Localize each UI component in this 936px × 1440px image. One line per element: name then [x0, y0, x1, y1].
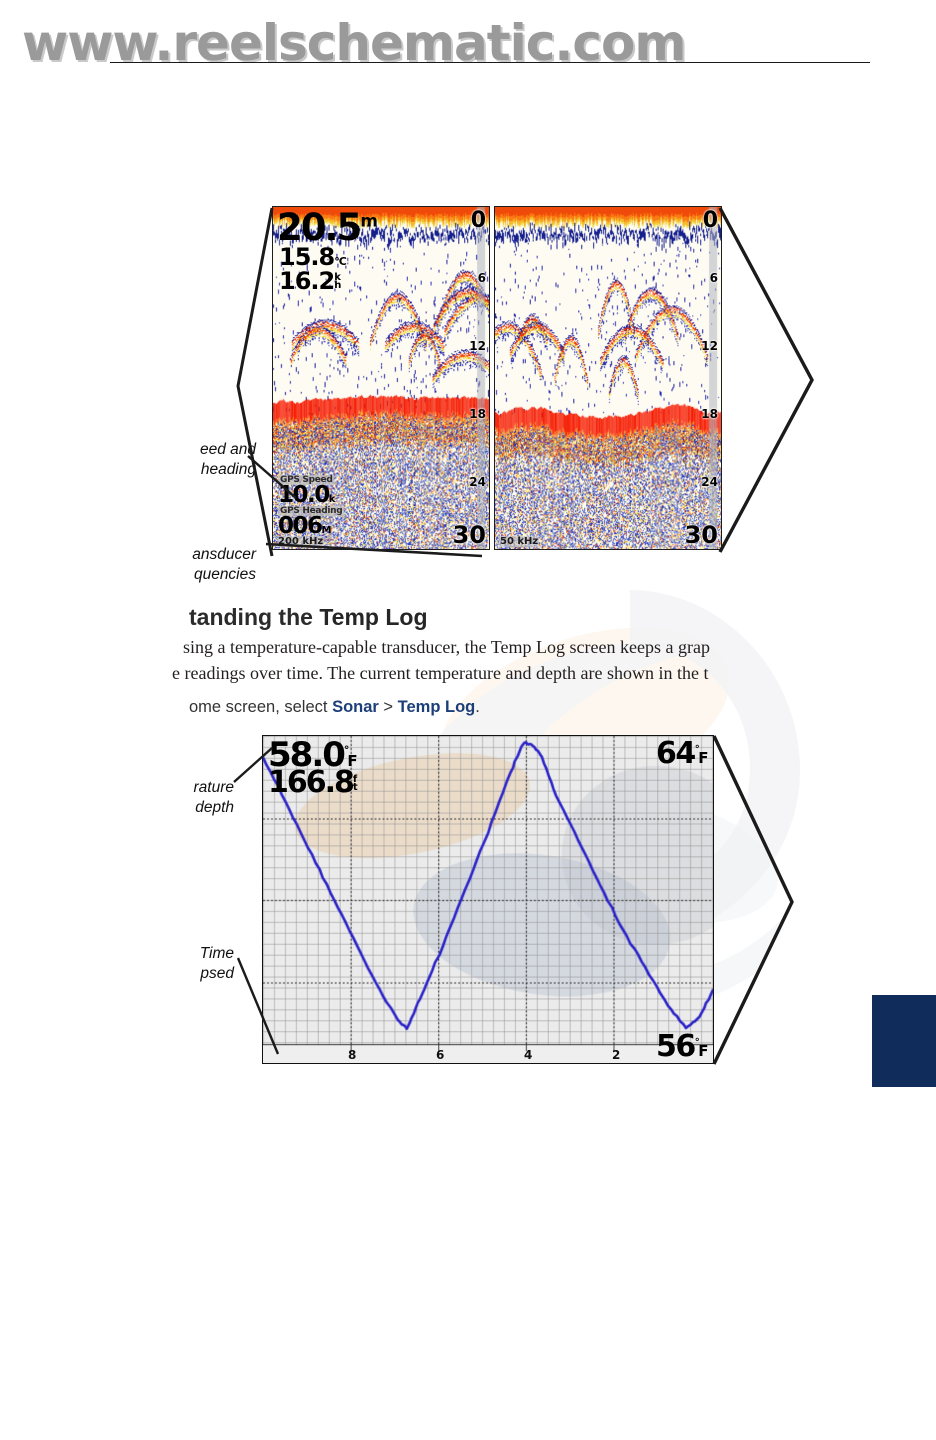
temp-depth-readout: 166.8ft [268, 768, 356, 798]
section-heading: tanding the Temp Log [189, 604, 428, 631]
sonar-water-temp-readout: 15.8°C [279, 245, 346, 269]
gps-speed-value: 10.0k [278, 484, 335, 507]
sonar-pane-50khz: 50 kHz 0 6 12 18 24 30 [494, 206, 722, 550]
time-tick-8: 8 [348, 1048, 356, 1062]
depth-tick-30-left: 30 [453, 521, 486, 549]
gps-heading-value: 006M [278, 515, 331, 538]
paragraph-line-1: sing a temperature-capable transducer, t… [183, 637, 710, 658]
callout-bracket-sonar-icon [716, 200, 820, 560]
depth-tick-24-right: 24 [701, 475, 718, 489]
time-tick-2: 2 [612, 1048, 620, 1062]
sonar-depth-readout: 20.5m [277, 209, 378, 246]
time-tick-4: 4 [524, 1048, 532, 1062]
depth-tick-30-right: 30 [685, 521, 718, 549]
depth-tick-12-right: 12 [701, 339, 718, 353]
temp-scale-min: 56°F [656, 1032, 707, 1062]
instruction-line: ome screen, select Sonar > Temp Log. [189, 698, 480, 717]
sonar-screenshot-figure: 20.5m 15.8°C 16.2kh GPS Speed 10.0k GPS … [272, 206, 722, 550]
sonar-echogram-right [495, 207, 721, 549]
depth-tick-18-right: 18 [701, 407, 718, 421]
time-tick-6: 6 [436, 1048, 444, 1062]
menu-path-temp-log: Temp Log [398, 698, 476, 716]
sonar-water-speed-readout: 16.2kh [279, 269, 340, 293]
page-edge-tab [872, 995, 936, 1087]
header-rule [110, 62, 870, 63]
callout-time-elapsed: Timepsed [160, 944, 234, 985]
site-watermark-text: www.reelschematic.com [22, 14, 642, 76]
depth-tick-12-left: 12 [469, 339, 486, 353]
depth-tick-18-left: 18 [469, 407, 486, 421]
menu-path-sonar: Sonar [332, 698, 379, 716]
depth-tick-24-left: 24 [469, 475, 486, 489]
callout-transducer-frequencies: ansducerquencies [120, 545, 256, 586]
sonar-pane-200khz: 20.5m 15.8°C 16.2kh GPS Speed 10.0k GPS … [272, 206, 490, 550]
callout-gps-speed-heading: eed andheading [128, 440, 256, 481]
depth-tick-0-left: 0 [471, 208, 486, 233]
depth-tick-6-right: 6 [710, 271, 718, 285]
temp-log-screen: 58.0°F 166.8ft 64°F 56°F 10min 8 6 4 2 [262, 735, 714, 1064]
callout-bracket-temp-icon [710, 730, 800, 1070]
paragraph-line-2: e readings over time. The current temper… [172, 663, 708, 684]
sonar-frequency-right: 50 kHz [499, 536, 539, 547]
sonar-frequency-left: 200 kHz [277, 536, 324, 547]
callout-temperature-depth: raturedepth [150, 778, 234, 819]
temp-scale-max: 64°F [656, 739, 707, 769]
depth-tick-0-right: 0 [703, 208, 718, 233]
depth-tick-6-left: 6 [478, 271, 486, 285]
temp-log-screenshot-figure: 58.0°F 166.8ft 64°F 56°F 10min 8 6 4 2 [262, 735, 714, 1064]
